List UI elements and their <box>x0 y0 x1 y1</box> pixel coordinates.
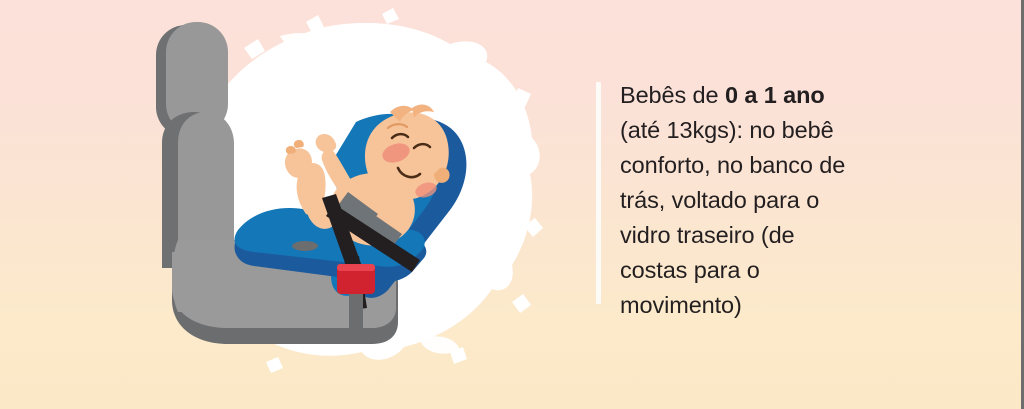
carrier-latch-detail <box>292 241 318 251</box>
caption-lead: Bebês de <box>620 82 725 108</box>
seatbelt-stalk <box>349 288 363 340</box>
caption-block: Bebês de 0 a 1 ano (até 13kgs): no bebê … <box>596 82 896 304</box>
car-seat-corner <box>172 240 240 312</box>
accent-bar <box>596 82 601 304</box>
caption-highlight: 0 a 1 ano <box>725 82 825 108</box>
caption-body: (até 13kgs): no bebê conforto, no banco … <box>620 117 845 318</box>
baby-car-seat-illustration <box>120 0 550 409</box>
caption-text: Bebês de 0 a 1 ano (até 13kgs): no bebê … <box>620 78 880 323</box>
infographic-panel: Bebês de 0 a 1 ano (até 13kgs): no bebê … <box>0 0 1024 409</box>
seatbelt-buckle-highlight <box>337 264 375 271</box>
